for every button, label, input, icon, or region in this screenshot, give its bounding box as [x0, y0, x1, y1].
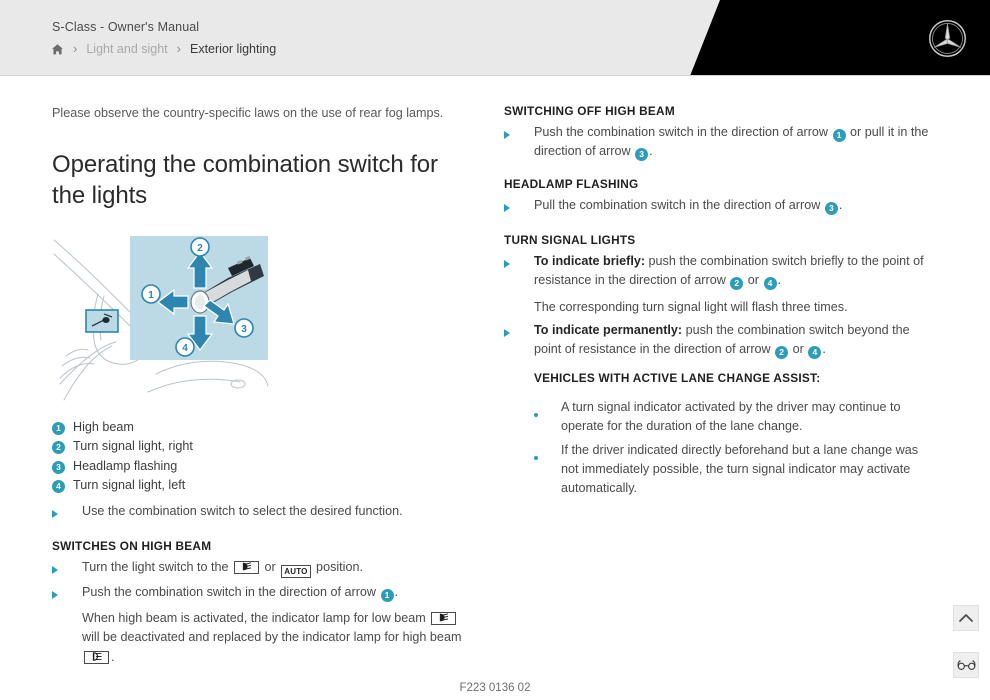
step-text: Push the combination switch in the direc…: [82, 583, 472, 667]
callout-number-ref-3: 3: [635, 148, 648, 161]
step-bullet: [52, 502, 82, 523]
mercedes-benz-star-logo: [928, 19, 967, 58]
svg-text:1: 1: [148, 290, 154, 301]
glasses-icon: [957, 659, 976, 671]
triangle-bullet-icon: [504, 131, 510, 139]
breadcrumb-parent[interactable]: Light and sight: [86, 42, 167, 56]
procedure-step: To indicate briefly: push the combinatio…: [504, 252, 929, 316]
legend-label-1: High beam: [73, 420, 134, 434]
callout-number-ref-2: 2: [730, 277, 743, 290]
step-bullet: [504, 196, 534, 217]
legend-label-3: Headlamp flashing: [73, 459, 177, 473]
breadcrumb-separator-2: ›: [177, 41, 181, 56]
list-item: If the driver indicated directly beforeh…: [534, 441, 929, 498]
svg-text:4: 4: [182, 343, 188, 354]
high-beam-symbol: [84, 651, 109, 664]
legend-label-4: Turn signal light, left: [73, 478, 185, 492]
step-lead-in: To indicate permanently:: [534, 323, 682, 337]
procedure-step: Push the combination switch in the direc…: [504, 123, 929, 161]
step-text: Push the combination switch in the direc…: [534, 123, 929, 161]
callout-number-ref-2: 2: [775, 346, 788, 359]
figure-legend: 1 High beam 2 Turn signal light, right 3…: [52, 420, 472, 493]
callout-number-ref-4: 4: [764, 277, 777, 290]
left-column: Please observe the country-specific laws…: [52, 104, 472, 671]
step-bullet: [504, 252, 534, 316]
reading-glasses-button[interactable]: [953, 652, 979, 678]
callout-number-ref-3: 3: [825, 202, 838, 215]
procedure-step: Turn the light switch to the or AUTO pos…: [52, 558, 472, 579]
bullet-text: If the driver indicated directly beforeh…: [561, 441, 929, 498]
section-heading: TURN SIGNAL LIGHTS: [504, 233, 929, 247]
dot-bullet-icon: [534, 441, 561, 498]
home-icon[interactable]: [51, 43, 64, 56]
list-item: A turn signal indicator activated by the…: [534, 398, 929, 436]
svg-text:3: 3: [241, 324, 247, 335]
chevron-up-icon: [959, 613, 973, 623]
callout-number-ref-4: 4: [808, 346, 821, 359]
step-bullet: [504, 123, 534, 161]
breadcrumb: › Light and sight › Exterior lighting: [51, 41, 276, 56]
callout-number-2: 2: [52, 441, 65, 454]
triangle-bullet-icon: [504, 329, 510, 337]
combination-switch-illustration: 1 2 3 4: [52, 234, 270, 402]
right-procedure-sections: SWITCHING OFF HIGH BEAMPush the combinat…: [504, 104, 929, 499]
triangle-bullet-icon: [52, 510, 58, 518]
callout-number-ref-1: 1: [833, 129, 846, 142]
low-beam-symbol: [234, 561, 259, 574]
svg-text:2: 2: [197, 243, 203, 254]
section-heading: HEADLAMP FLASHING: [504, 177, 929, 191]
section-heading: SWITCHES ON HIGH BEAM: [52, 539, 472, 553]
step-text: Use the combination switch to select the…: [82, 502, 403, 523]
triangle-bullet-icon: [52, 591, 58, 599]
triangle-bullet-icon: [504, 260, 510, 268]
procedure-step: To indicate permanently: push the combin…: [504, 321, 929, 394]
list-item: 1 High beam: [52, 420, 472, 434]
right-column: SWITCHING OFF HIGH BEAMPush the combinat…: [504, 104, 929, 504]
intro-paragraph: Please observe the country-specific laws…: [52, 104, 472, 122]
step-text: Turn the light switch to the or AUTO pos…: [82, 558, 363, 579]
list-item: 3 Headlamp flashing: [52, 459, 472, 473]
section-heading: SWITCHING OFF HIGH BEAM: [504, 104, 929, 118]
triangle-bullet-icon: [504, 204, 510, 212]
scroll-to-top-button[interactable]: [953, 605, 979, 631]
triangle-bullet-icon: [52, 566, 58, 574]
step-note: When high beam is activated, the indicat…: [82, 609, 472, 666]
step-text: To indicate briefly: push the combinatio…: [534, 252, 929, 316]
sub-section-heading: VEHICLES WITH ACTIVE LANE CHANGE ASSIST:: [534, 370, 929, 388]
low-beam-symbol: [431, 612, 456, 625]
page-content: Please observe the country-specific laws…: [0, 76, 990, 700]
step-bullet: [52, 558, 82, 579]
callout-number-3: 3: [52, 461, 65, 474]
step-text: To indicate permanently: push the combin…: [534, 321, 929, 394]
callout-number-ref-1: 1: [381, 589, 394, 602]
manual-title: S-Class - Owner's Manual: [52, 20, 199, 34]
step-lead-in: To indicate briefly:: [534, 254, 645, 268]
procedure-step: Push the combination switch in the direc…: [52, 583, 472, 667]
left-procedure-sections: SWITCHES ON HIGH BEAMTurn the light swit…: [52, 539, 472, 667]
step-bullet: [504, 321, 534, 394]
list-item: 2 Turn signal light, right: [52, 439, 472, 453]
manual-page: S-Class - Owner's Manual › Light and sig…: [0, 0, 990, 700]
dot-bullet-icon: [534, 398, 561, 436]
bullet-text: A turn signal indicator activated by the…: [561, 398, 929, 436]
legend-label-2: Turn signal light, right: [73, 439, 193, 453]
bullet-list: A turn signal indicator activated by the…: [534, 398, 929, 499]
procedure-step: Pull the combination switch in the direc…: [504, 196, 929, 217]
breadcrumb-current: Exterior lighting: [190, 42, 276, 56]
list-item: 4 Turn signal light, left: [52, 478, 472, 492]
page-title: Operating the combination switch for the…: [52, 150, 472, 211]
auto-position-symbol: AUTO: [281, 565, 310, 578]
step-bullet: [52, 583, 82, 667]
step-use-switch: Use the combination switch to select the…: [52, 502, 472, 523]
step-text: Pull the combination switch in the direc…: [534, 196, 842, 217]
breadcrumb-separator-1: ›: [73, 41, 77, 56]
callout-number-1: 1: [52, 422, 65, 435]
page-header: S-Class - Owner's Manual › Light and sig…: [0, 0, 990, 76]
figure-code: F223 0136 02: [0, 682, 990, 694]
callout-number-4: 4: [52, 480, 65, 493]
step-note: The corresponding turn signal light will…: [534, 298, 929, 317]
